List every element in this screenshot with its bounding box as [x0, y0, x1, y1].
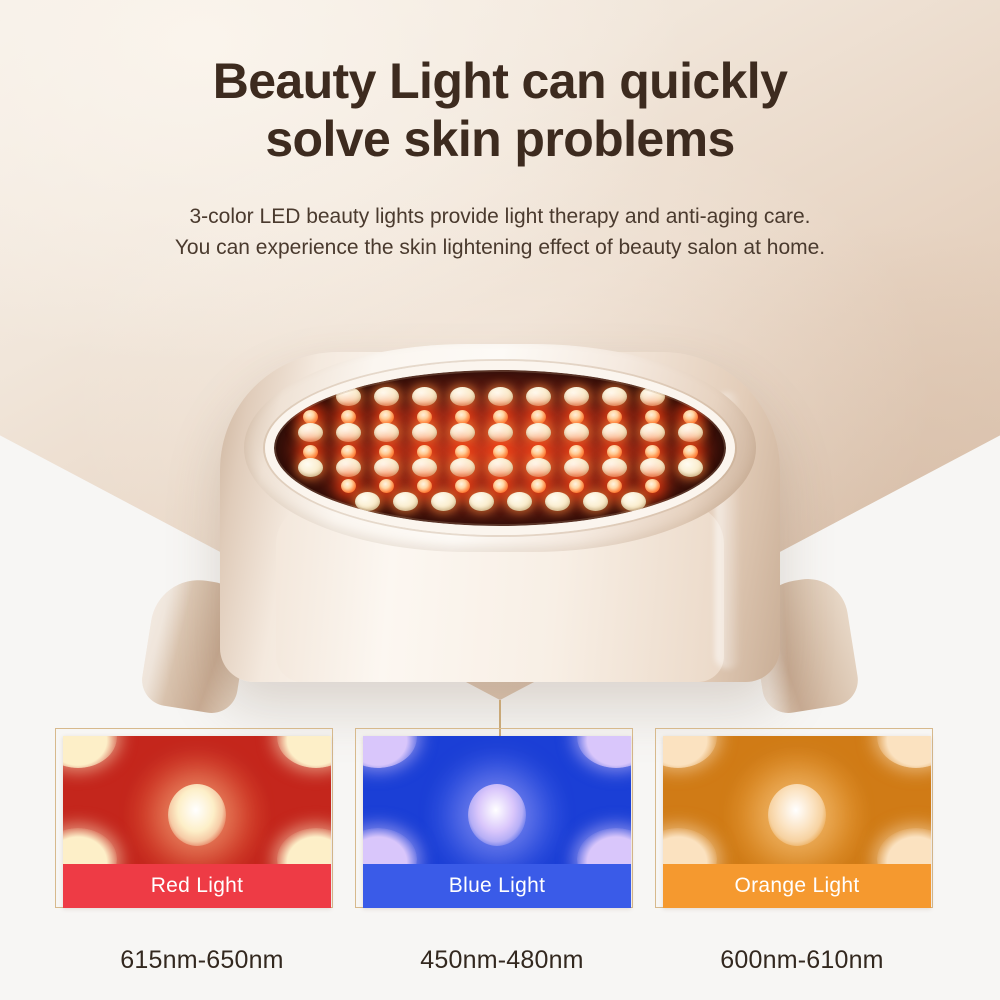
- card-frame: Blue Light: [363, 736, 641, 916]
- led-bulb: [507, 492, 532, 511]
- led-bulb-glow: [303, 445, 318, 459]
- led-bulb: [545, 492, 570, 511]
- card-label: Orange Light: [734, 874, 859, 898]
- led-bulb-glow: [569, 479, 584, 493]
- led-bulb: [678, 423, 703, 442]
- led-bulb: [431, 492, 456, 511]
- led-bulb: [564, 458, 589, 477]
- led-bulb: [564, 423, 589, 442]
- led-bulb-glow: [645, 445, 660, 459]
- led-bulb: [450, 387, 475, 406]
- led-bulb-glow: [607, 410, 622, 424]
- light-mode-card-list: Red Light 615nm-650nm Blue Light: [0, 736, 1000, 1000]
- card-label: Blue Light: [449, 874, 545, 898]
- led-bulb-glow: [417, 445, 432, 459]
- led-bulb: [526, 387, 551, 406]
- led-bulb: [488, 458, 513, 477]
- led-bulb: [678, 458, 703, 477]
- card-label: Red Light: [151, 874, 244, 898]
- thumbnail-led-center: [168, 784, 226, 846]
- led-bulb: [526, 423, 551, 442]
- led-bulb: [450, 423, 475, 442]
- led-bulb: [602, 423, 627, 442]
- led-bulb-glow: [455, 445, 470, 459]
- led-bulb: [336, 387, 361, 406]
- led-bulb: [374, 423, 399, 442]
- card-label-band: Blue Light: [363, 864, 631, 908]
- product-feature-page: Beauty Light can quickly solve skin prob…: [0, 0, 1000, 1000]
- led-bulb: [298, 458, 323, 477]
- led-bulb-glow: [379, 479, 394, 493]
- light-mode-card-red[interactable]: Red Light 615nm-650nm: [52, 736, 352, 975]
- led-bulb: [640, 387, 665, 406]
- led-bulb: [450, 458, 475, 477]
- led-bulb-glow: [455, 479, 470, 493]
- card-thumbnail: Orange Light: [663, 736, 931, 908]
- led-bulb: [412, 423, 437, 442]
- led-bulb-glow: [417, 410, 432, 424]
- led-bulb-glow: [683, 410, 698, 424]
- led-bulb-glow: [455, 410, 470, 424]
- led-bulb-glow: [379, 445, 394, 459]
- led-bulb-glow: [341, 410, 356, 424]
- led-bulb-glow: [341, 479, 356, 493]
- led-bulb-glow: [607, 479, 622, 493]
- led-bulb: [355, 492, 380, 511]
- thumbnail-led-center: [768, 784, 826, 846]
- card-wavelength: 450nm-480nm: [352, 946, 652, 975]
- led-bulb: [621, 492, 646, 511]
- led-panel: [274, 370, 726, 526]
- light-mode-card-blue[interactable]: Blue Light 450nm-480nm: [352, 736, 652, 975]
- chevron-connector-line: [499, 700, 501, 738]
- card-frame: Orange Light: [663, 736, 941, 916]
- led-bulb-glow: [645, 479, 660, 493]
- led-bulb-glow: [531, 479, 546, 493]
- led-bulb-glow: [493, 410, 508, 424]
- page-subtitle-line-2: You can experience the skin lightening e…: [0, 232, 1000, 263]
- led-bulb-glow: [493, 445, 508, 459]
- led-bulb: [393, 492, 418, 511]
- card-label-band: Red Light: [63, 864, 331, 908]
- led-bulb: [412, 458, 437, 477]
- led-bulb-glow: [417, 479, 432, 493]
- led-bulb-glow: [379, 410, 394, 424]
- page-subtitle-line-1: 3-color LED beauty lights provide light …: [0, 201, 1000, 232]
- led-bulb: [374, 458, 399, 477]
- led-bulb-glow: [607, 445, 622, 459]
- led-bulb: [412, 387, 437, 406]
- led-bulb-glow: [569, 445, 584, 459]
- led-bulb: [488, 387, 513, 406]
- device-head-dome: [244, 344, 756, 552]
- card-label-band: Orange Light: [663, 864, 931, 908]
- card-thumbnail: Blue Light: [363, 736, 631, 908]
- led-bulb: [640, 423, 665, 442]
- led-bulb: [374, 387, 399, 406]
- led-bulb-glow: [303, 410, 318, 424]
- led-bulb: [640, 458, 665, 477]
- led-bulb-glow: [531, 410, 546, 424]
- led-bulb: [336, 423, 361, 442]
- led-bulb-glow: [341, 445, 356, 459]
- led-bulb-glow: [645, 410, 660, 424]
- led-bulb: [469, 492, 494, 511]
- led-bulb: [602, 458, 627, 477]
- led-bulb: [488, 423, 513, 442]
- light-mode-card-orange[interactable]: Orange Light 600nm-610nm: [652, 736, 952, 975]
- led-bulb-glow: [569, 410, 584, 424]
- thumbnail-led-center: [468, 784, 526, 846]
- led-bulb: [298, 423, 323, 442]
- led-bulb: [583, 492, 608, 511]
- page-title-line-1: Beauty Light can quickly: [0, 52, 1000, 110]
- card-wavelength: 615nm-650nm: [52, 946, 352, 975]
- card-frame: Red Light: [63, 736, 341, 916]
- card-wavelength: 600nm-610nm: [652, 946, 952, 975]
- card-thumbnail: Red Light: [63, 736, 331, 908]
- led-bulb: [526, 458, 551, 477]
- hero-text-block: Beauty Light can quickly solve skin prob…: [0, 0, 1000, 263]
- page-title-line-2: solve skin problems: [0, 110, 1000, 168]
- led-bulb: [602, 387, 627, 406]
- led-bulb-glow: [683, 445, 698, 459]
- led-bulb-glow: [493, 479, 508, 493]
- led-bulb-glow: [531, 445, 546, 459]
- led-bulb: [336, 458, 361, 477]
- led-bulb: [564, 387, 589, 406]
